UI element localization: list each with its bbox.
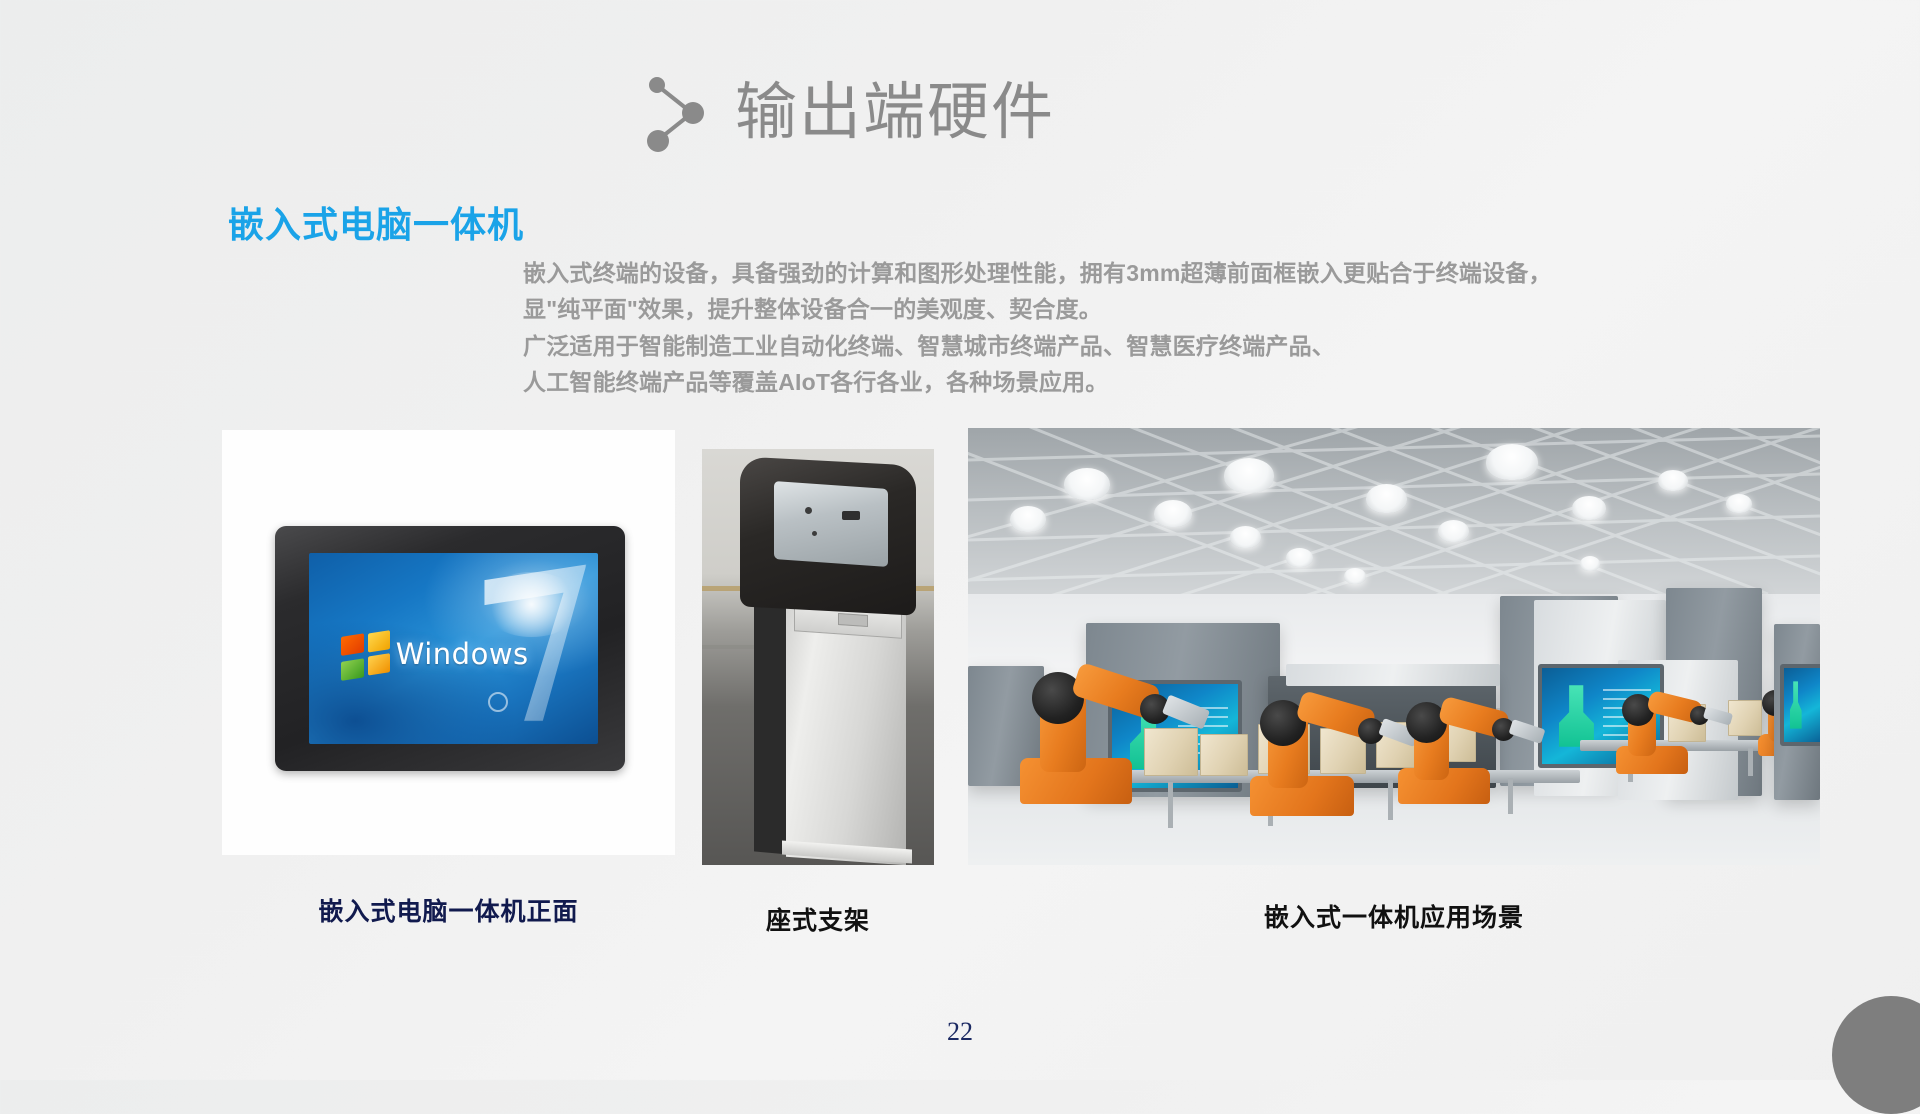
kiosk-camera-dot — [805, 507, 812, 514]
body-line-3: 广泛适用于智能制造工业自动化终端、智慧城市终端产品、智慧医疗终端产品、 — [523, 328, 1643, 364]
body-line-1: 嵌入式终端的设备，具备强劲的计算和图形处理性能，拥有3mm超薄前面框嵌入更贴合于… — [523, 255, 1643, 291]
page-number: 22 — [0, 1017, 1920, 1047]
figure-caption-1: 嵌入式电脑一体机正面 — [222, 892, 675, 928]
ceiling-lamp — [1486, 444, 1538, 480]
factory-scene — [968, 428, 1820, 865]
body-line-2: 显"纯平面"效果，提升整体设备合一的美观度、契合度。 — [523, 291, 1643, 327]
figure-row: Windows 嵌入式电脑一体机正面 — [0, 420, 1920, 940]
ceiling-lamp — [1154, 500, 1192, 527]
slide-canvas: 输出端硬件 嵌入式电脑一体机 嵌入式终端的设备，具备强劲的计算和图形处理性能，拥… — [0, 0, 1920, 1080]
kiosk-sensor-dot — [812, 531, 817, 536]
ceiling-lamp — [1344, 568, 1366, 584]
ceiling-lamp — [1230, 526, 1261, 548]
ceiling-lamp — [1658, 470, 1688, 491]
embedded-pc-front-image: Windows — [222, 430, 675, 855]
figure-application-scene: 嵌入式一体机应用场景 — [968, 428, 1820, 865]
carton-box — [1728, 700, 1762, 736]
ceiling-lamp — [1010, 506, 1046, 532]
application-scene-image — [968, 428, 1820, 865]
slide-header: 输出端硬件 — [645, 72, 1055, 154]
conveyor-leg — [1168, 782, 1173, 828]
windows-wordmark: Windows — [396, 637, 529, 671]
ceiling-lamp — [1580, 556, 1600, 571]
screen-note-icon — [488, 692, 508, 712]
ceiling-lamp — [1286, 548, 1313, 567]
section-subtitle: 嵌入式电脑一体机 — [228, 196, 524, 248]
ceiling-lamp — [1224, 458, 1274, 493]
windows-logo-icon — [341, 629, 390, 681]
machine-top-rail — [1286, 664, 1500, 686]
page-title: 输出端硬件 — [735, 82, 1055, 144]
kiosk-card-slot — [838, 613, 868, 627]
share-network-icon — [645, 72, 707, 154]
corner-decoration-circle — [1832, 996, 1920, 1114]
ceiling-lamp — [1726, 494, 1752, 513]
carton-box — [1144, 728, 1198, 776]
kiosk-touch-screen — [774, 481, 888, 567]
hmi-robot-graphic — [1790, 681, 1802, 728]
monitor-bezel: Windows — [275, 526, 625, 771]
ceiling-lamp — [1064, 468, 1110, 500]
body-copy: 嵌入式终端的设备，具备强劲的计算和图形处理性能，拥有3mm超薄前面框嵌入更贴合于… — [523, 255, 1643, 400]
ceiling-lamp — [1572, 496, 1606, 520]
figure-caption-2: 座式支架 — [702, 901, 934, 937]
hmi-robot-graphic — [1559, 685, 1594, 746]
figure-floor-stand-kiosk: 座式支架 — [702, 449, 934, 865]
figure-embedded-pc-front: Windows 嵌入式电脑一体机正面 — [222, 430, 675, 855]
conveyor-leg — [1388, 780, 1393, 820]
monitor-screen: Windows — [309, 553, 598, 744]
screen-glow — [482, 572, 580, 637]
carton-box — [1200, 734, 1248, 776]
kiosk-reader-bar — [842, 511, 860, 520]
conveyor-leg — [1748, 748, 1753, 776]
conveyor-leg — [1508, 778, 1513, 814]
figure-caption-3: 嵌入式一体机应用场景 — [968, 898, 1820, 934]
floor-stand-kiosk-image — [702, 449, 934, 865]
hmi-display-panel — [1780, 664, 1820, 746]
body-line-4: 人工智能终端产品等覆盖AIoT各行各业，各种场景应用。 — [523, 364, 1643, 400]
ceiling-lamp — [1366, 484, 1407, 513]
ceiling-lamp — [1438, 520, 1469, 542]
